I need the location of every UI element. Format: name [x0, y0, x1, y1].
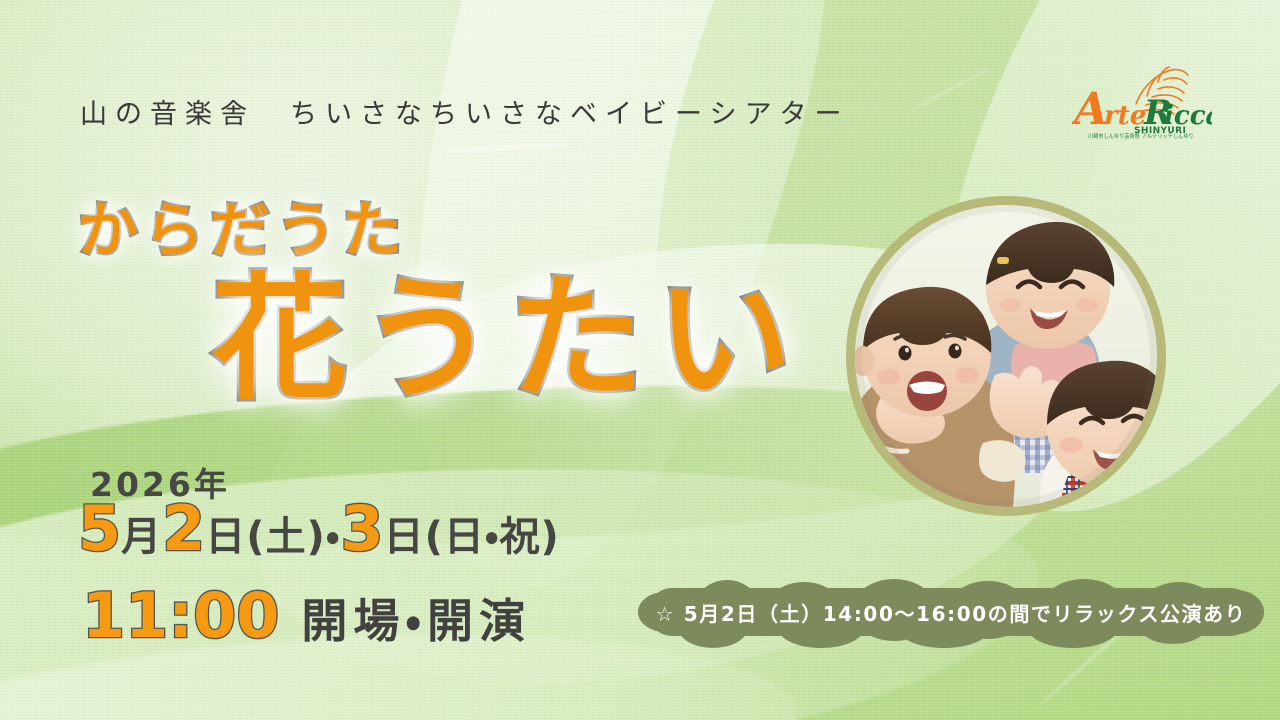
schedule-day2-weekday: (日・祝): [425, 514, 560, 560]
schedule-day1-weekday: (土): [246, 514, 326, 560]
schedule-day1-number: 2: [162, 492, 205, 565]
schedule-day2-kanji: 日: [384, 514, 425, 560]
schedule-time-note: 開場・開演: [279, 594, 531, 648]
poster-title: 花うたい: [212, 272, 804, 408]
brush-highlight-1: [440, 143, 570, 154]
poster-root: 山の音楽舎 ちいさなちいさなベイビーシアター からだうた 花うたい 2026年 …: [0, 0, 1280, 720]
babies-photo-circle: [846, 196, 1166, 516]
schedule-month-number: 5: [78, 492, 121, 565]
logo-subtitle-japanese: 川崎市しんゆり芸術祭 アルテリッチしんゆり: [1088, 133, 1194, 141]
schedule-date-line: 5月2日(土)・3日(日・祝): [78, 498, 560, 560]
schedule-time-minute: 00: [193, 579, 279, 652]
schedule-day1-kanji: 日: [205, 514, 246, 560]
schedule-date-separator: ・: [326, 514, 341, 560]
poster-subtitle: からだうた: [78, 182, 408, 269]
logo-letter-A: A: [1072, 84, 1108, 135]
schedule-day2-number: 3: [340, 492, 383, 565]
brush-highlight-6: [520, 85, 680, 91]
relax-performance-banner: ☆ 5月2日（土）14:00〜16:00の間でリラックス公演あり: [648, 588, 1254, 636]
schedule-month-kanji: 月: [121, 514, 162, 560]
relax-performance-text: ☆ 5月2日（土）14:00〜16:00の間でリラックス公演あり: [648, 588, 1254, 636]
brush-highlight-2: [910, 67, 991, 112]
organizer-series-line: 山の音楽舎 ちいさなちいさなベイビーシアター: [80, 92, 849, 131]
arte-ricca-logo[interactable]: A rte R icca SHINYURI 川崎市しんゆり芸術祭 アルテリッチし…: [1072, 62, 1212, 148]
schedule-time-hour: 11: [82, 579, 168, 652]
schedule-time-colon: :: [168, 579, 193, 652]
schedule-time-line: 11:00開場・開演: [82, 585, 531, 647]
babies-photo-illustration: [855, 205, 1157, 507]
